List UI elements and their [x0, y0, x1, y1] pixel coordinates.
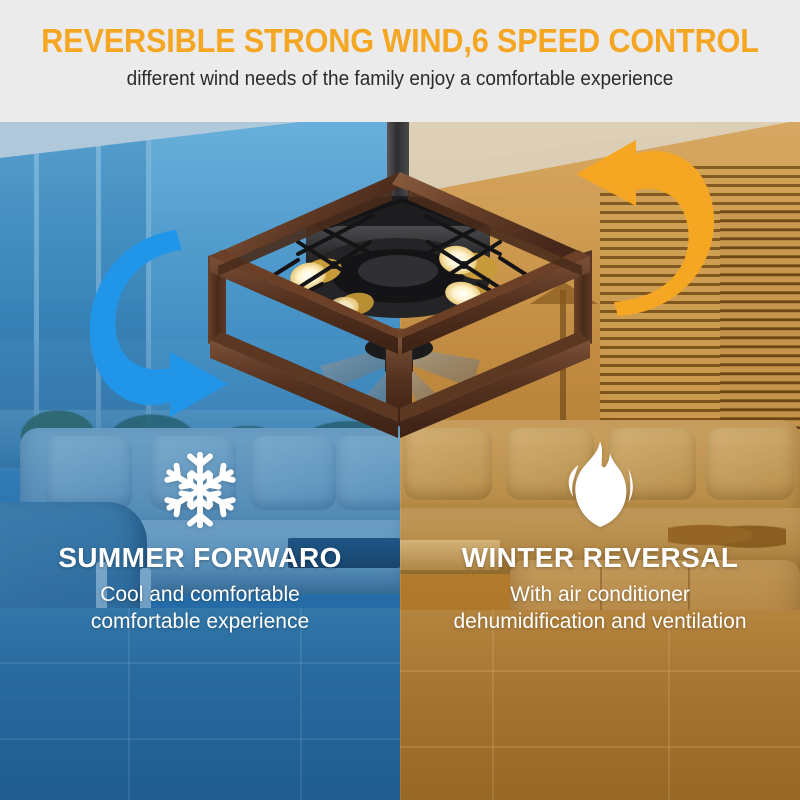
tile-floor	[0, 608, 400, 800]
summer-feature-block: SUMMER FORWARO Cool and comfortable comf…	[0, 448, 400, 636]
summer-description-line-2: comfortable experience	[0, 609, 400, 636]
flame-icon	[558, 440, 642, 532]
page-subtitle: different wind needs of the family enjoy…	[20, 68, 780, 91]
winter-title: WINTER REVERSAL	[400, 542, 800, 574]
summer-title: SUMMER FORWARO	[0, 542, 400, 574]
winter-description-line-2: dehumidification and ventilation	[400, 609, 800, 636]
tile-floor	[400, 610, 800, 800]
snowflake-icon	[158, 448, 242, 532]
winter-description-line-1: With air conditioner	[400, 582, 800, 609]
floor-seam	[668, 610, 670, 800]
lamp-shade	[530, 282, 598, 304]
header-band	[0, 0, 800, 122]
floor-seam	[128, 608, 130, 800]
floor-seam	[300, 608, 302, 800]
floor-seam	[0, 738, 400, 740]
winter-description: With air conditioner dehumidification an…	[400, 582, 800, 636]
floor-seam	[400, 746, 800, 748]
summer-description: Cool and comfortable comfortable experie…	[0, 582, 400, 636]
floor-seam	[492, 610, 494, 800]
product-feature-banner: REVERSIBLE STRONG WIND,6 SPEED CONTROL d…	[0, 0, 800, 800]
winter-feature-block: WINTER REVERSAL With air conditioner deh…	[400, 440, 800, 636]
page-title: REVERSIBLE STRONG WIND,6 SPEED CONTROL	[28, 22, 772, 60]
floor-seam	[400, 670, 800, 672]
floor-seam	[0, 662, 400, 664]
summer-description-line-1: Cool and comfortable	[0, 582, 400, 609]
